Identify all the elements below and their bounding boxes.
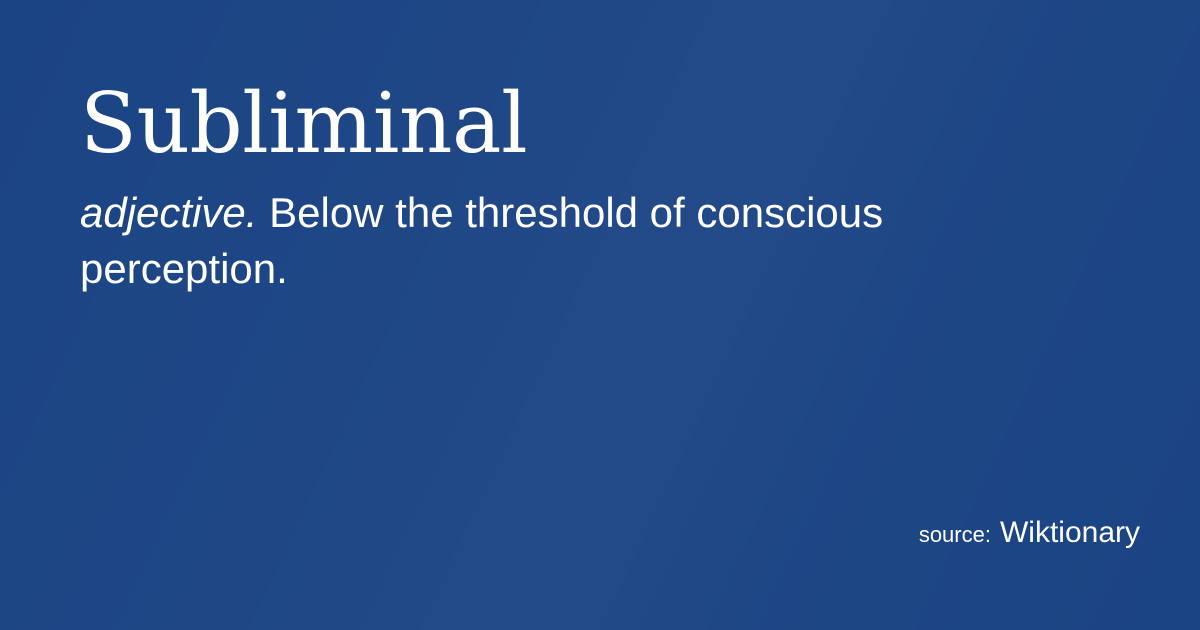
source-name: Wiktionary [1000,518,1140,548]
source-label: source: [919,524,991,546]
definition-card: Subliminal adjective. Below the threshol… [0,0,1200,630]
card-content: Subliminal adjective. Below the threshol… [0,0,1200,630]
part-of-speech-label: adjective. [80,189,257,236]
page-title: Subliminal [80,82,1140,165]
source-attribution: source: Wiktionary [919,518,1140,548]
definition-block: adjective. Below the threshold of consci… [80,185,990,297]
content-spacer [80,339,1140,518]
